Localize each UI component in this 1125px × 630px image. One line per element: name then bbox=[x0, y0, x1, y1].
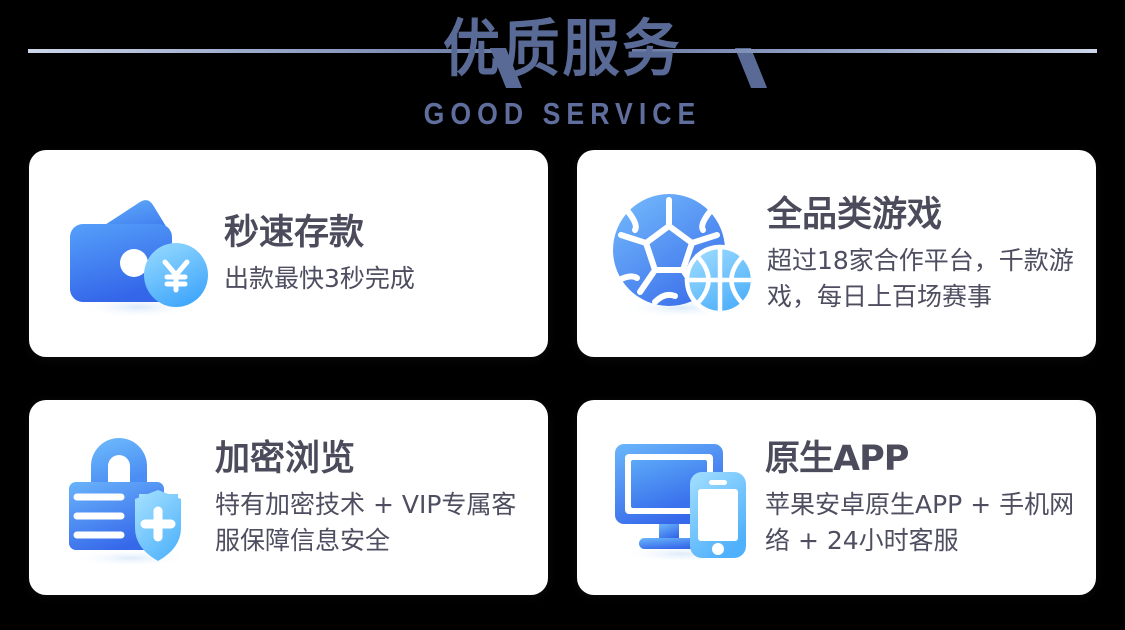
feature-card[interactable]: 秒速存款 出款最快3秒完成 bbox=[29, 150, 548, 357]
page-subtitle: GOOD SERVICE bbox=[79, 97, 1047, 131]
feature-card-description: 苹果安卓原生APP + 手机网络 + 24小时客服 bbox=[765, 487, 1078, 559]
monitor-phone-icon bbox=[607, 434, 759, 562]
feature-card-grid: 秒速存款 出款最快3秒完成 bbox=[29, 150, 1096, 595]
feature-card[interactable]: 原生APP 苹果安卓原生APP + 手机网络 + 24小时客服 bbox=[577, 400, 1096, 595]
feature-card-text: 秒速存款 出款最快3秒完成 bbox=[218, 211, 548, 297]
feature-card-title: 秒速存款 bbox=[224, 211, 530, 255]
banner-header: 优质服务 GOOD SERVICE bbox=[0, 0, 1125, 145]
feature-card-title: 全品类游戏 bbox=[767, 193, 1078, 237]
feature-card-text: 原生APP 苹果安卓原生APP + 手机网络 + 24小时客服 bbox=[765, 437, 1096, 559]
feature-card-description: 超过18家合作平台，千款游戏，每日上百场赛事 bbox=[767, 243, 1078, 315]
feature-card[interactable]: 加密浏览 特有加密技术 + VIP专属客服保障信息安全 bbox=[29, 400, 548, 595]
soccer-basketball-icon bbox=[605, 188, 761, 320]
lock-shield-icon bbox=[61, 428, 209, 568]
service-banner: 优质服务 GOOD SERVICE bbox=[0, 0, 1125, 630]
feature-card-title: 原生APP bbox=[765, 437, 1078, 481]
feature-card-text: 加密浏览 特有加密技术 + VIP专属客服保障信息安全 bbox=[215, 437, 548, 559]
feature-card[interactable]: 全品类游戏 超过18家合作平台，千款游戏，每日上百场赛事 bbox=[577, 150, 1096, 357]
feature-card-text: 全品类游戏 超过18家合作平台，千款游戏，每日上百场赛事 bbox=[767, 193, 1096, 315]
feature-card-description: 出款最快3秒完成 bbox=[224, 261, 530, 297]
feature-card-title: 加密浏览 bbox=[215, 437, 530, 481]
wallet-yen-icon bbox=[62, 188, 212, 320]
page-title: 优质服务 bbox=[45, 8, 1080, 90]
feature-card-description: 特有加密技术 + VIP专属客服保障信息安全 bbox=[215, 487, 530, 559]
